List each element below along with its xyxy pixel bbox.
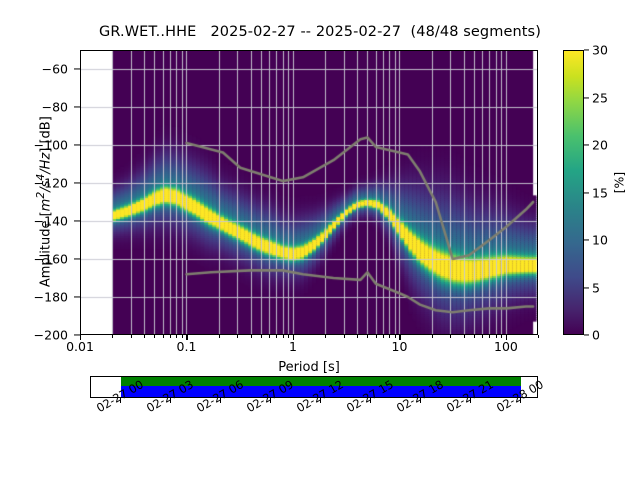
colorbar-tick-mark (584, 97, 589, 98)
colorbar-unit-label: [%] (611, 172, 626, 194)
x-minor-tick (357, 335, 358, 338)
colorbar-tick-label: 20 (592, 138, 608, 153)
y-tick-mark (74, 144, 80, 145)
colorbar-tick-mark (584, 334, 589, 335)
colorbar-tick-mark (584, 144, 589, 145)
x-minor-tick (219, 335, 220, 338)
x-minor-tick (182, 335, 183, 338)
x-tick-label: 0.01 (66, 339, 94, 354)
colorbar-tick-label: 5 (592, 280, 600, 295)
colorbar-tick-mark (584, 239, 589, 240)
x-minor-tick (237, 335, 238, 338)
x-minor-tick (450, 335, 451, 338)
x-tick-label: 100 (494, 339, 518, 354)
x-tick-label: 0.1 (177, 339, 197, 354)
colorbar-tick-mark (584, 49, 589, 50)
y-tick-label: −160 (34, 252, 68, 267)
x-tick-mark (80, 335, 81, 340)
x-minor-tick (383, 335, 384, 338)
y-tick-label: −200 (34, 328, 68, 343)
y-tick-label: −120 (34, 176, 68, 191)
y-tick-label: −140 (34, 214, 68, 229)
x-axis-label: Period [s] (80, 360, 538, 375)
x-minor-tick (176, 335, 177, 338)
colorbar-tick-mark (584, 287, 589, 288)
y-tick-mark (74, 182, 80, 183)
colorbar-tick-label: 0 (592, 328, 600, 343)
x-minor-tick (432, 335, 433, 338)
x-minor-tick (163, 335, 164, 338)
x-minor-tick (489, 335, 490, 338)
x-minor-tick (538, 335, 539, 338)
x-minor-tick (112, 335, 113, 338)
x-minor-tick (389, 335, 390, 338)
y-tick-label: −100 (34, 138, 68, 153)
x-minor-tick (261, 335, 262, 338)
x-tick-mark (293, 335, 294, 340)
x-minor-tick (501, 335, 502, 338)
x-tick-label: 10 (392, 339, 408, 354)
ppsd-figure: GR.WET..HHE 2025-02-27 -- 2025-02-27 (48… (0, 0, 640, 480)
x-minor-tick (482, 335, 483, 338)
x-tick-mark (186, 335, 187, 340)
y-tick-label: −60 (42, 62, 68, 77)
x-minor-tick (395, 335, 396, 338)
colorbar-tick-label: 30 (592, 43, 608, 58)
colorbar (563, 50, 584, 335)
y-tick-mark (74, 68, 80, 69)
colorbar-tick-mark (584, 192, 589, 193)
x-minor-tick (131, 335, 132, 338)
x-minor-tick (269, 335, 270, 338)
x-minor-tick (154, 335, 155, 338)
x-minor-tick (367, 335, 368, 338)
y-tick-mark (74, 220, 80, 221)
y-tick-mark (74, 258, 80, 259)
y-tick-mark (74, 296, 80, 297)
x-minor-tick (474, 335, 475, 338)
x-minor-tick (170, 335, 171, 338)
ppsd-density-canvas (81, 51, 537, 334)
x-minor-tick (144, 335, 145, 338)
colorbar-tick-label: 10 (592, 233, 608, 248)
x-minor-tick (288, 335, 289, 338)
y-tick-label: −180 (34, 290, 68, 305)
x-minor-tick (325, 335, 326, 338)
x-minor-tick (251, 335, 252, 338)
colorbar-tick-label: 15 (592, 185, 608, 200)
x-minor-tick (496, 335, 497, 338)
y-tick-label: −80 (42, 100, 68, 115)
x-tick-mark (399, 335, 400, 340)
x-tick-label: 1 (289, 339, 297, 354)
x-minor-tick (283, 335, 284, 338)
page-title: GR.WET..HHE 2025-02-27 -- 2025-02-27 (48… (0, 24, 640, 40)
x-minor-tick (344, 335, 345, 338)
x-minor-tick (376, 335, 377, 338)
x-minor-tick (464, 335, 465, 338)
x-minor-tick (276, 335, 277, 338)
ppsd-plot-area[interactable] (80, 50, 538, 335)
y-tick-mark (74, 106, 80, 107)
x-tick-mark (506, 335, 507, 340)
colorbar-tick-label: 25 (592, 90, 608, 105)
